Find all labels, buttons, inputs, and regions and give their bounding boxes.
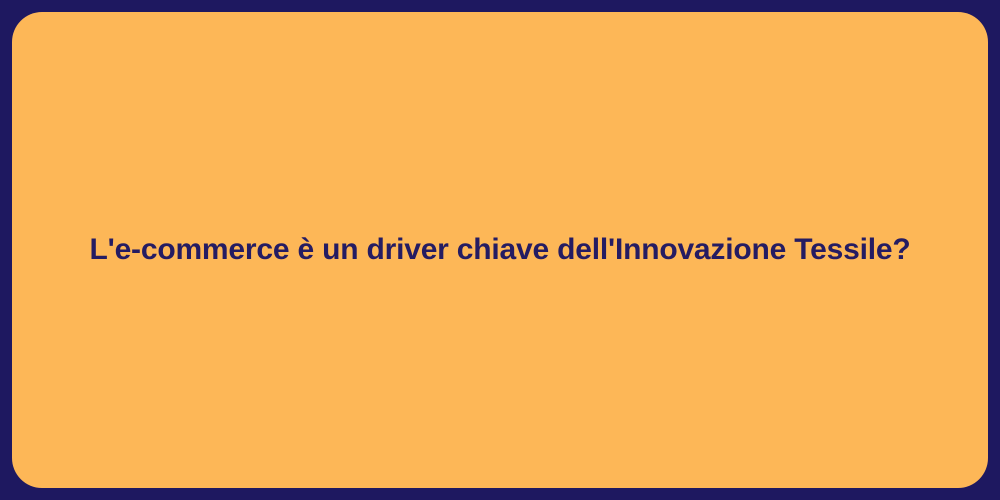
banner-frame: L'e-commerce è un driver chiave dell'Inn… (0, 0, 1000, 500)
banner-panel: L'e-commerce è un driver chiave dell'Inn… (12, 12, 988, 488)
banner-headline: L'e-commerce è un driver chiave dell'Inn… (66, 231, 935, 269)
